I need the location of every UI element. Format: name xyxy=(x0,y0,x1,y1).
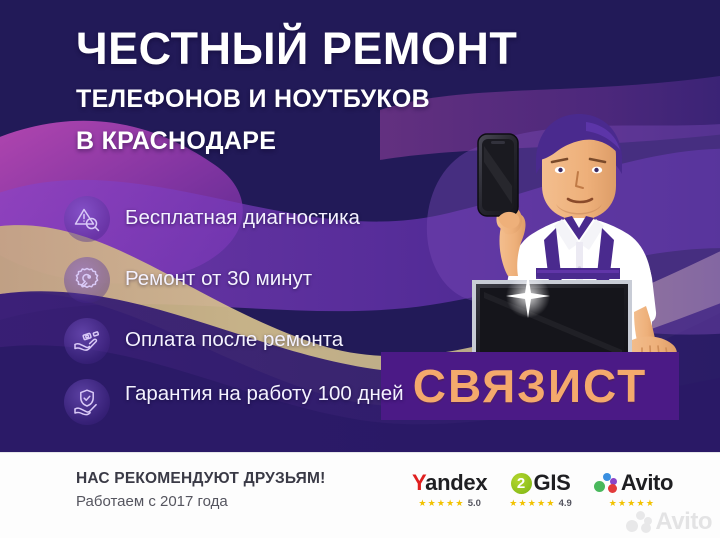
benefits-list: Бесплатная диагностика Ремонт от 30 мину… xyxy=(64,196,444,425)
star-icons: ★★★★★ xyxy=(418,499,464,508)
benefit-label: Ремонт от 30 минут xyxy=(125,257,312,291)
benefit-item-payment: Оплата после ремонта xyxy=(64,318,444,364)
benefit-item-diagnostics: Бесплатная диагностика xyxy=(64,196,444,242)
hero-panel: ЧЕСТНЫЙ РЕМОНТ ТЕЛЕФОНОВ И НОУТБУКОВ В К… xyxy=(0,0,720,452)
avito-text: Avito xyxy=(621,472,673,494)
benefit-item-repair-time: Ремонт от 30 минут xyxy=(64,257,444,303)
gis-text: GIS xyxy=(534,472,571,494)
hand-shield-check-icon xyxy=(64,379,110,425)
rating-value: 4.9 xyxy=(559,499,572,509)
benefit-label: Гарантия на работу 100 дней xyxy=(125,379,404,406)
avito-rating: ★★★★★ xyxy=(609,499,658,508)
benefit-label: Оплата после ремонта xyxy=(125,318,343,352)
footer-bar: НАС РЕКОМЕНДУЮТ ДРУЗЬЯМ! Работаем с 2017… xyxy=(0,452,720,538)
page-title: ЧЕСТНЫЙ РЕМОНТ xyxy=(76,26,596,71)
hand-money-icon xyxy=(64,318,110,364)
star-icons: ★★★★★ xyxy=(509,499,555,508)
warning-magnifier-icon xyxy=(64,196,110,242)
headline-block: ЧЕСТНЫЙ РЕМОНТ ТЕЛЕФОНОВ И НОУТБУКОВ В К… xyxy=(76,26,596,154)
yandex-wordmark: Yandex xyxy=(412,470,487,496)
yandex-initial: Y xyxy=(412,470,425,495)
gis-wordmark: 2 GIS xyxy=(511,470,571,496)
gear-wrench-icon xyxy=(64,257,110,303)
review-logo-avito[interactable]: Avito ★★★★★ xyxy=(594,470,673,508)
review-logo-2gis[interactable]: 2 GIS ★★★★★ 4.9 xyxy=(509,470,572,509)
review-logo-yandex[interactable]: Yandex ★★★★★ 5.0 xyxy=(412,470,487,509)
benefit-item-warranty: Гарантия на работу 100 дней xyxy=(64,379,444,425)
recommend-line: НАС РЕКОМЕНДУЮТ ДРУЗЬЯМ! xyxy=(76,469,325,488)
avito-wordmark: Avito xyxy=(594,470,673,496)
avito-dots-icon xyxy=(594,473,618,493)
advertisement-banner: ЧЕСТНЫЙ РЕМОНТ ТЕЛЕФОНОВ И НОУТБУКОВ В К… xyxy=(0,0,720,538)
benefit-label: Бесплатная диагностика xyxy=(125,196,360,230)
yandex-rest: andex xyxy=(425,470,487,495)
star-icons: ★★★★★ xyxy=(609,499,655,508)
subheadline-city: В КРАСНОДАРЕ xyxy=(76,129,596,154)
subheadline-services: ТЕЛЕФОНОВ И НОУТБУКОВ xyxy=(76,87,596,112)
rating-value: 5.0 xyxy=(468,499,481,509)
review-logos: Yandex ★★★★★ 5.0 2 GIS ★★★★★ 4.9 xyxy=(412,470,673,509)
gis-circle-icon: 2 xyxy=(511,473,532,494)
gis-rating: ★★★★★ 4.9 xyxy=(509,499,572,509)
footer-text-block: НАС РЕКОМЕНДУЮТ ДРУЗЬЯМ! Работаем с 2017… xyxy=(76,469,325,513)
since-line: Работаем с 2017 года xyxy=(76,491,325,513)
yandex-rating: ★★★★★ 5.0 xyxy=(418,499,481,509)
brand-name: СВЯЗИСТ xyxy=(413,363,647,409)
